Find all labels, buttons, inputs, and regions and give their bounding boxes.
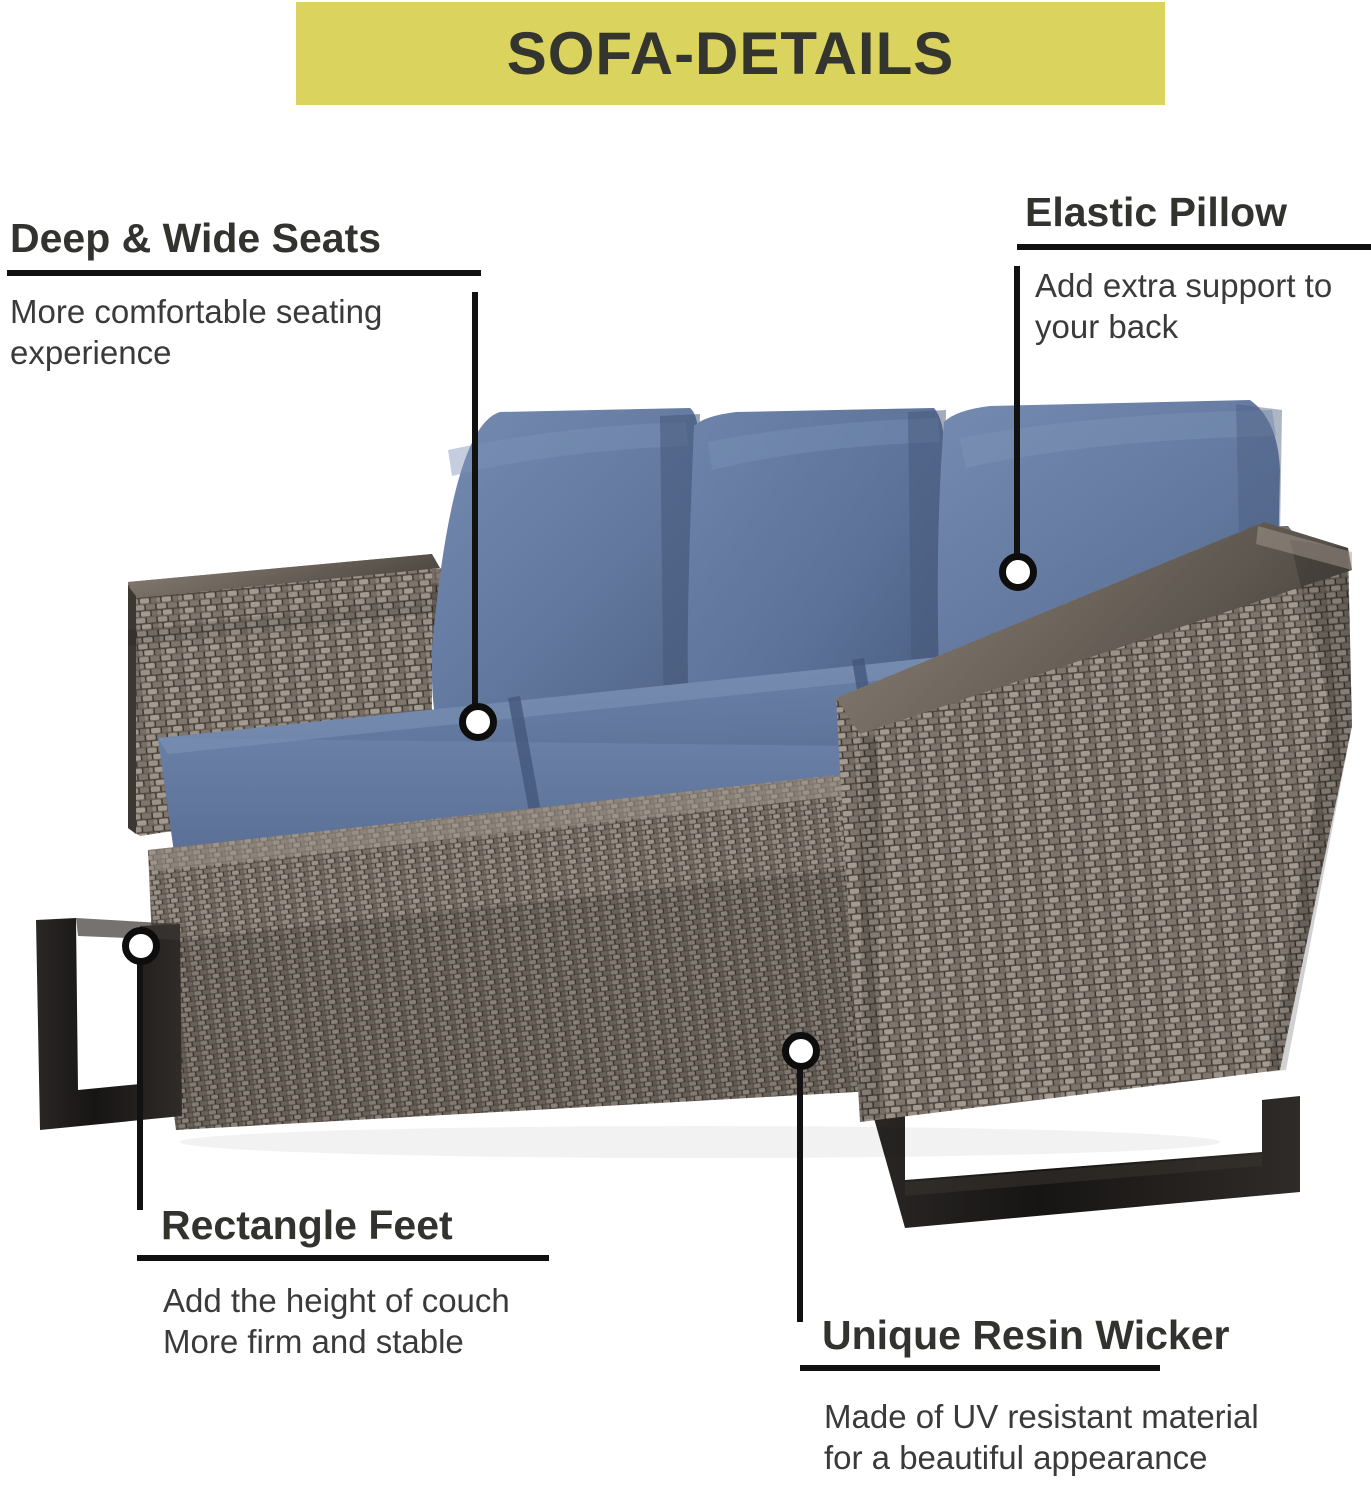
leader-line-wicker	[797, 1052, 803, 1322]
callout-marker-wicker	[782, 1032, 820, 1070]
callout-heading-seats: Deep & Wide Seats	[10, 216, 487, 260]
product-illustration-sofa	[0, 330, 1371, 1290]
callout-body-wicker-line1: Made of UV resistant material	[824, 1397, 1371, 1437]
callout-heading-feet: Rectangle Feet	[161, 1203, 597, 1247]
callout-rule-pillow	[1017, 244, 1371, 250]
callout-elastic-pillow: Elastic Pillow Add extra support to your…	[1017, 190, 1371, 347]
leader-line-feet	[137, 948, 143, 1210]
callout-marker-seats	[459, 703, 497, 741]
callout-marker-feet	[122, 927, 160, 965]
callout-body-seats: More comfortable seating experience	[10, 292, 487, 373]
callout-rule-wicker	[800, 1365, 1160, 1371]
callout-unique-resin-wicker: Unique Resin Wicker Made of UV resistant…	[800, 1313, 1371, 1478]
callout-body-wicker: Made of UV resistant material for a beau…	[824, 1397, 1371, 1478]
callout-heading-wicker: Unique Resin Wicker	[822, 1313, 1371, 1357]
callout-deep-wide-seats: Deep & Wide Seats More comfortable seati…	[7, 216, 487, 373]
callout-body-feet-line2: More firm and stable	[163, 1322, 597, 1362]
page-title-banner: SOFA-DETAILS	[296, 2, 1165, 105]
callout-marker-pillow	[999, 553, 1037, 591]
callout-rule-seats	[7, 270, 481, 276]
callout-heading-pillow: Elastic Pillow	[1025, 190, 1371, 234]
page-title: SOFA-DETAILS	[507, 19, 955, 88]
callout-body-feet-line1: Add the height of couch	[163, 1281, 597, 1321]
callout-body-wicker-line2: for a beautiful appearance	[824, 1438, 1371, 1478]
callout-rule-feet	[137, 1255, 549, 1261]
callout-body-feet: Add the height of couch More firm and st…	[163, 1281, 597, 1362]
callout-rectangle-feet: Rectangle Feet Add the height of couch M…	[137, 1203, 597, 1362]
callout-body-pillow: Add extra support to your back	[1035, 266, 1371, 347]
sofa-leg-left	[36, 918, 182, 1130]
